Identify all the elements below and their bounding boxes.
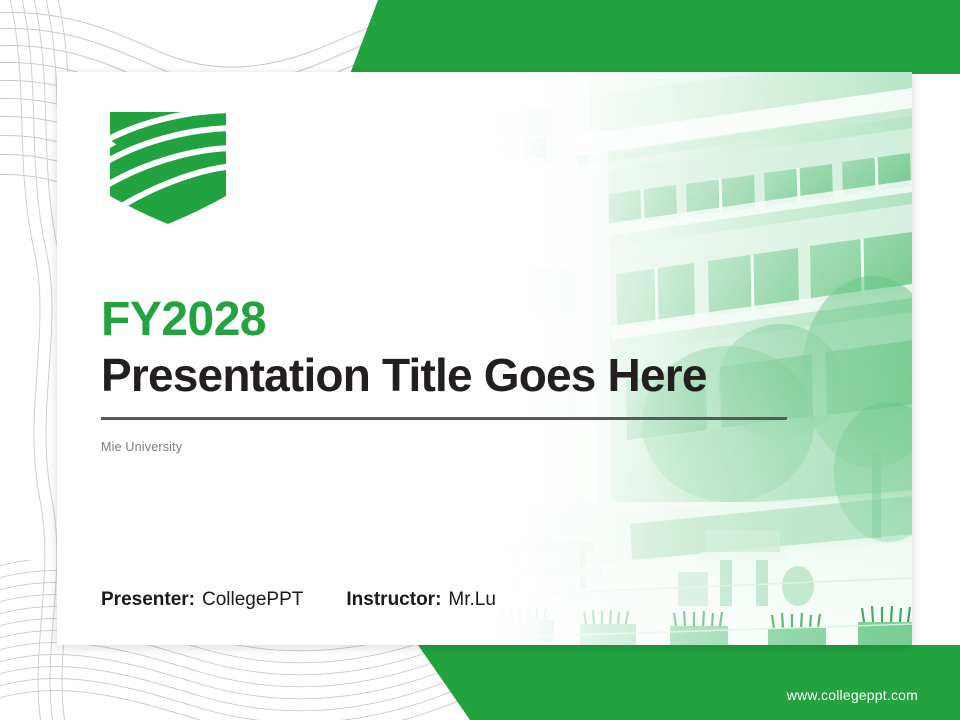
presentation-slide: FY2028 Presentation Title Goes Here Mie …	[0, 0, 960, 720]
mie-university-shield-logo	[102, 108, 234, 226]
instructor-label: Instructor:	[346, 589, 441, 611]
fiscal-year-heading: FY2028	[101, 294, 861, 346]
instructor-value: Mr.Lu	[448, 589, 496, 611]
organization-name: Mie University	[101, 440, 861, 454]
presenter-label: Presenter:	[101, 589, 195, 611]
credits-row: Presenter: CollegePPT Instructor: Mr.Lu	[101, 589, 496, 611]
presenter-value: CollegePPT	[202, 589, 303, 611]
title-block: FY2028 Presentation Title Goes Here Mie …	[101, 294, 861, 454]
page-title: Presentation Title Goes Here	[101, 350, 861, 402]
title-divider	[101, 417, 787, 420]
slide-card: FY2028 Presentation Title Goes Here Mie …	[57, 72, 912, 645]
instructor-credit: Instructor: Mr.Lu	[346, 589, 496, 611]
footer-website-url[interactable]: www.collegeppt.com	[787, 687, 918, 703]
presenter-credit: Presenter: CollegePPT	[101, 589, 303, 611]
